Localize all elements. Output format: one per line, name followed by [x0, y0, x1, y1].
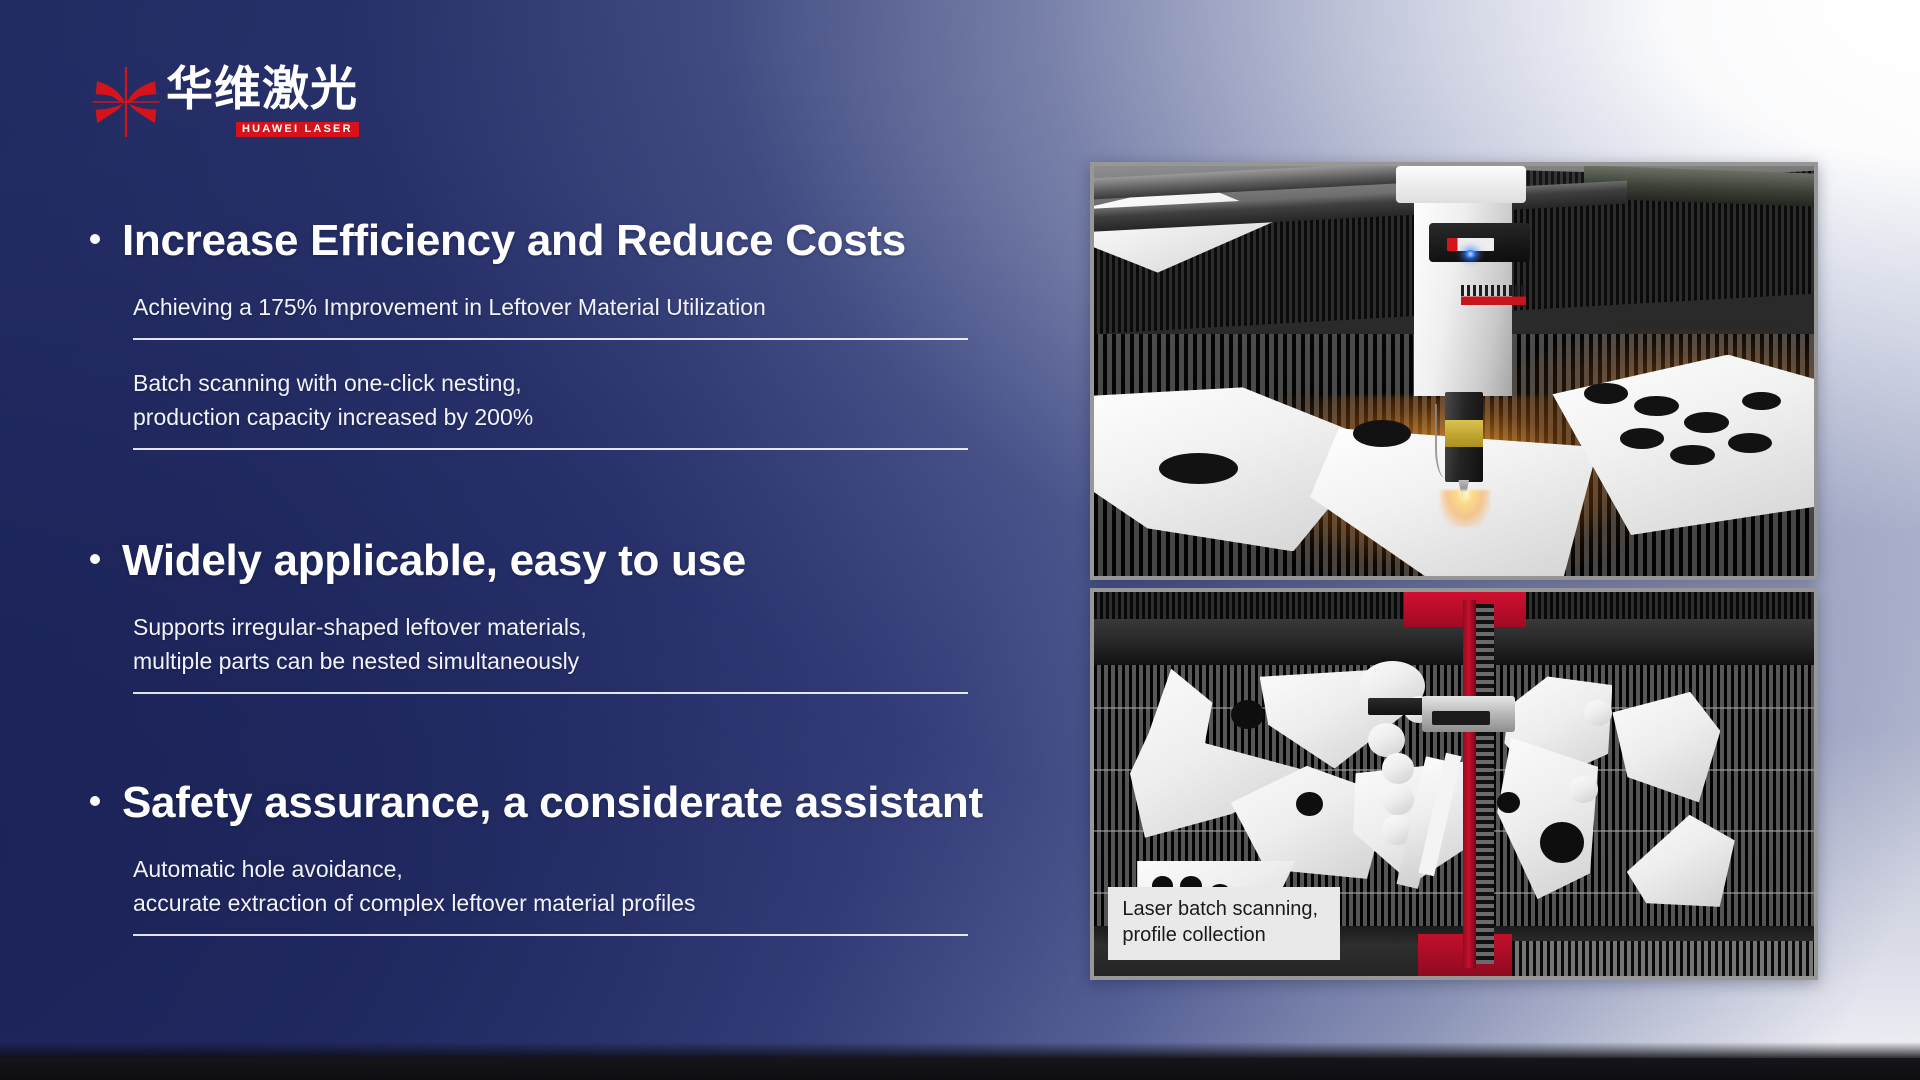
cut-hole [1620, 428, 1665, 449]
cut-hole [1728, 433, 1773, 454]
photo-content: Laser batch scanning, profile collection [1094, 592, 1814, 976]
machine-logo-badge [1447, 238, 1494, 251]
bottom-frame-slats [1512, 941, 1814, 976]
section-item: Batch scanning with one-click nesting, p… [0, 366, 1010, 434]
divider-line [133, 692, 968, 694]
section-heading: Increase Efficiency and Reduce Costs [0, 218, 1010, 264]
nested-part [1382, 784, 1414, 815]
section-heading: Safety assurance, a considerate assistan… [0, 780, 1010, 826]
section-item-line: multiple parts can be nested simultaneou… [133, 644, 1010, 678]
laser-cutting-head-photo [1090, 162, 1818, 580]
bullet-icon [90, 554, 100, 564]
gear-rack [1476, 604, 1495, 965]
laser-nozzle-collar [1445, 420, 1482, 447]
content-column: Increase Efficiency and Reduce Costs Ach… [0, 0, 1080, 1080]
cut-hole [1584, 383, 1629, 404]
section-item: Supports irregular-shaped leftover mater… [0, 610, 1010, 678]
nested-part [1382, 753, 1414, 784]
divider-line [133, 448, 968, 450]
photo-content [1094, 166, 1814, 576]
bullet-icon [90, 234, 100, 244]
section-item-line: production capacity increased by 200% [133, 400, 1010, 434]
section-item-line: Batch scanning with one-click nesting, [133, 366, 1010, 400]
cut-hole [1670, 445, 1715, 466]
cut-hole [1159, 453, 1238, 484]
cut-hole [1353, 420, 1411, 447]
section-item: Automatic hole avoidance, accurate extra… [0, 852, 1010, 920]
laser-spark [1440, 490, 1490, 527]
section-item-line: accurate extraction of complex leftover … [133, 886, 1010, 920]
cut-hole [1742, 392, 1781, 410]
red-rail [1463, 600, 1477, 969]
section-heading-text: Widely applicable, easy to use [122, 538, 746, 584]
section-widely-applicable: Widely applicable, easy to use Supports … [0, 538, 1010, 694]
cut-hole [1231, 700, 1264, 729]
machine-brand-mark [1461, 283, 1526, 306]
carriage-slot [1432, 711, 1490, 725]
cut-hole [1296, 792, 1323, 817]
cut-hole [1684, 412, 1729, 433]
section-heading-text: Increase Efficiency and Reduce Costs [122, 218, 906, 264]
cut-hole [1634, 396, 1679, 417]
section-item-line: Achieving a 175% Improvement in Leftover… [133, 290, 1010, 324]
slide-root: 华维激光 HUAWEI LASER Increase Efficiency an… [0, 0, 1920, 1080]
section-item-line: Automatic hole avoidance, [133, 852, 1010, 886]
nested-part [1368, 723, 1405, 758]
bullet-icon [90, 796, 100, 806]
section-item-line: Supports irregular-shaped leftover mater… [133, 610, 1010, 644]
nested-parts-bed-photo: Laser batch scanning, profile collection [1090, 588, 1818, 980]
nested-part [1569, 776, 1598, 803]
tower-cap [1396, 166, 1526, 203]
section-safety-assurance: Safety assurance, a considerate assistan… [0, 780, 1010, 936]
divider-line [133, 934, 968, 936]
divider-line [133, 338, 968, 340]
photo-caption: Laser batch scanning, profile collection [1108, 887, 1340, 960]
section-heading: Widely applicable, easy to use [0, 538, 1010, 584]
section-heading-text: Safety assurance, a considerate assistan… [122, 780, 983, 826]
section-increase-efficiency: Increase Efficiency and Reduce Costs Ach… [0, 218, 1010, 450]
section-item: Achieving a 175% Improvement in Leftover… [0, 290, 1010, 324]
cut-hole [1540, 822, 1583, 862]
